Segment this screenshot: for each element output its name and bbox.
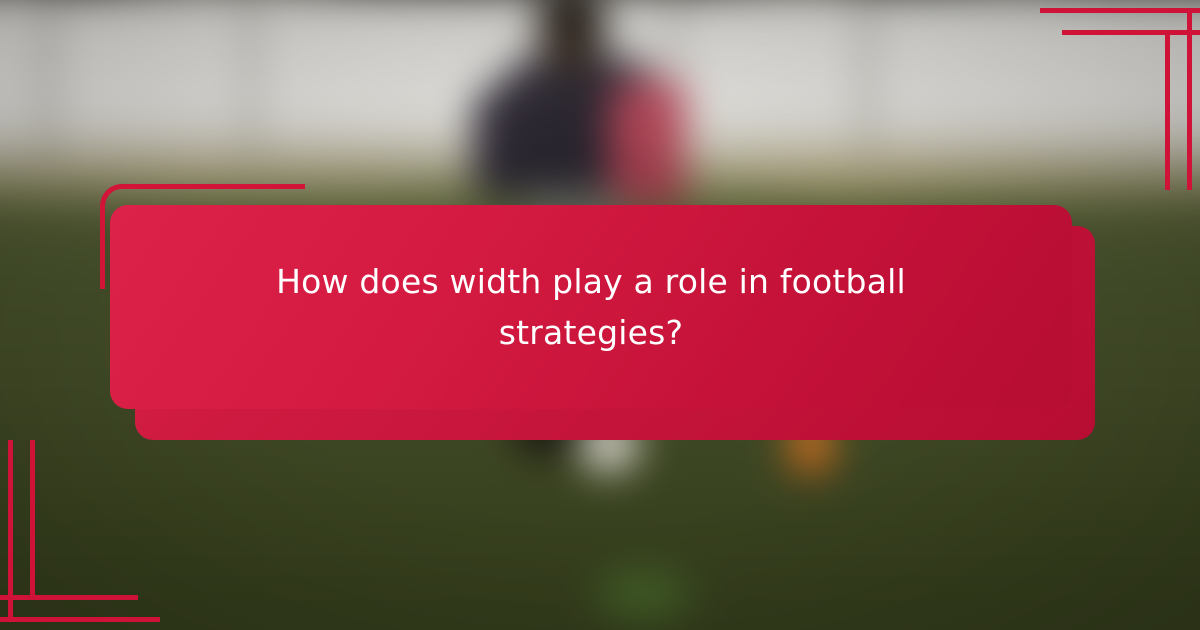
question-card: How does width play a role in football s… (0, 0, 1200, 630)
banner-stage: How does width play a role in football s… (0, 0, 1200, 630)
question-title: How does width play a role in football s… (110, 205, 1072, 409)
